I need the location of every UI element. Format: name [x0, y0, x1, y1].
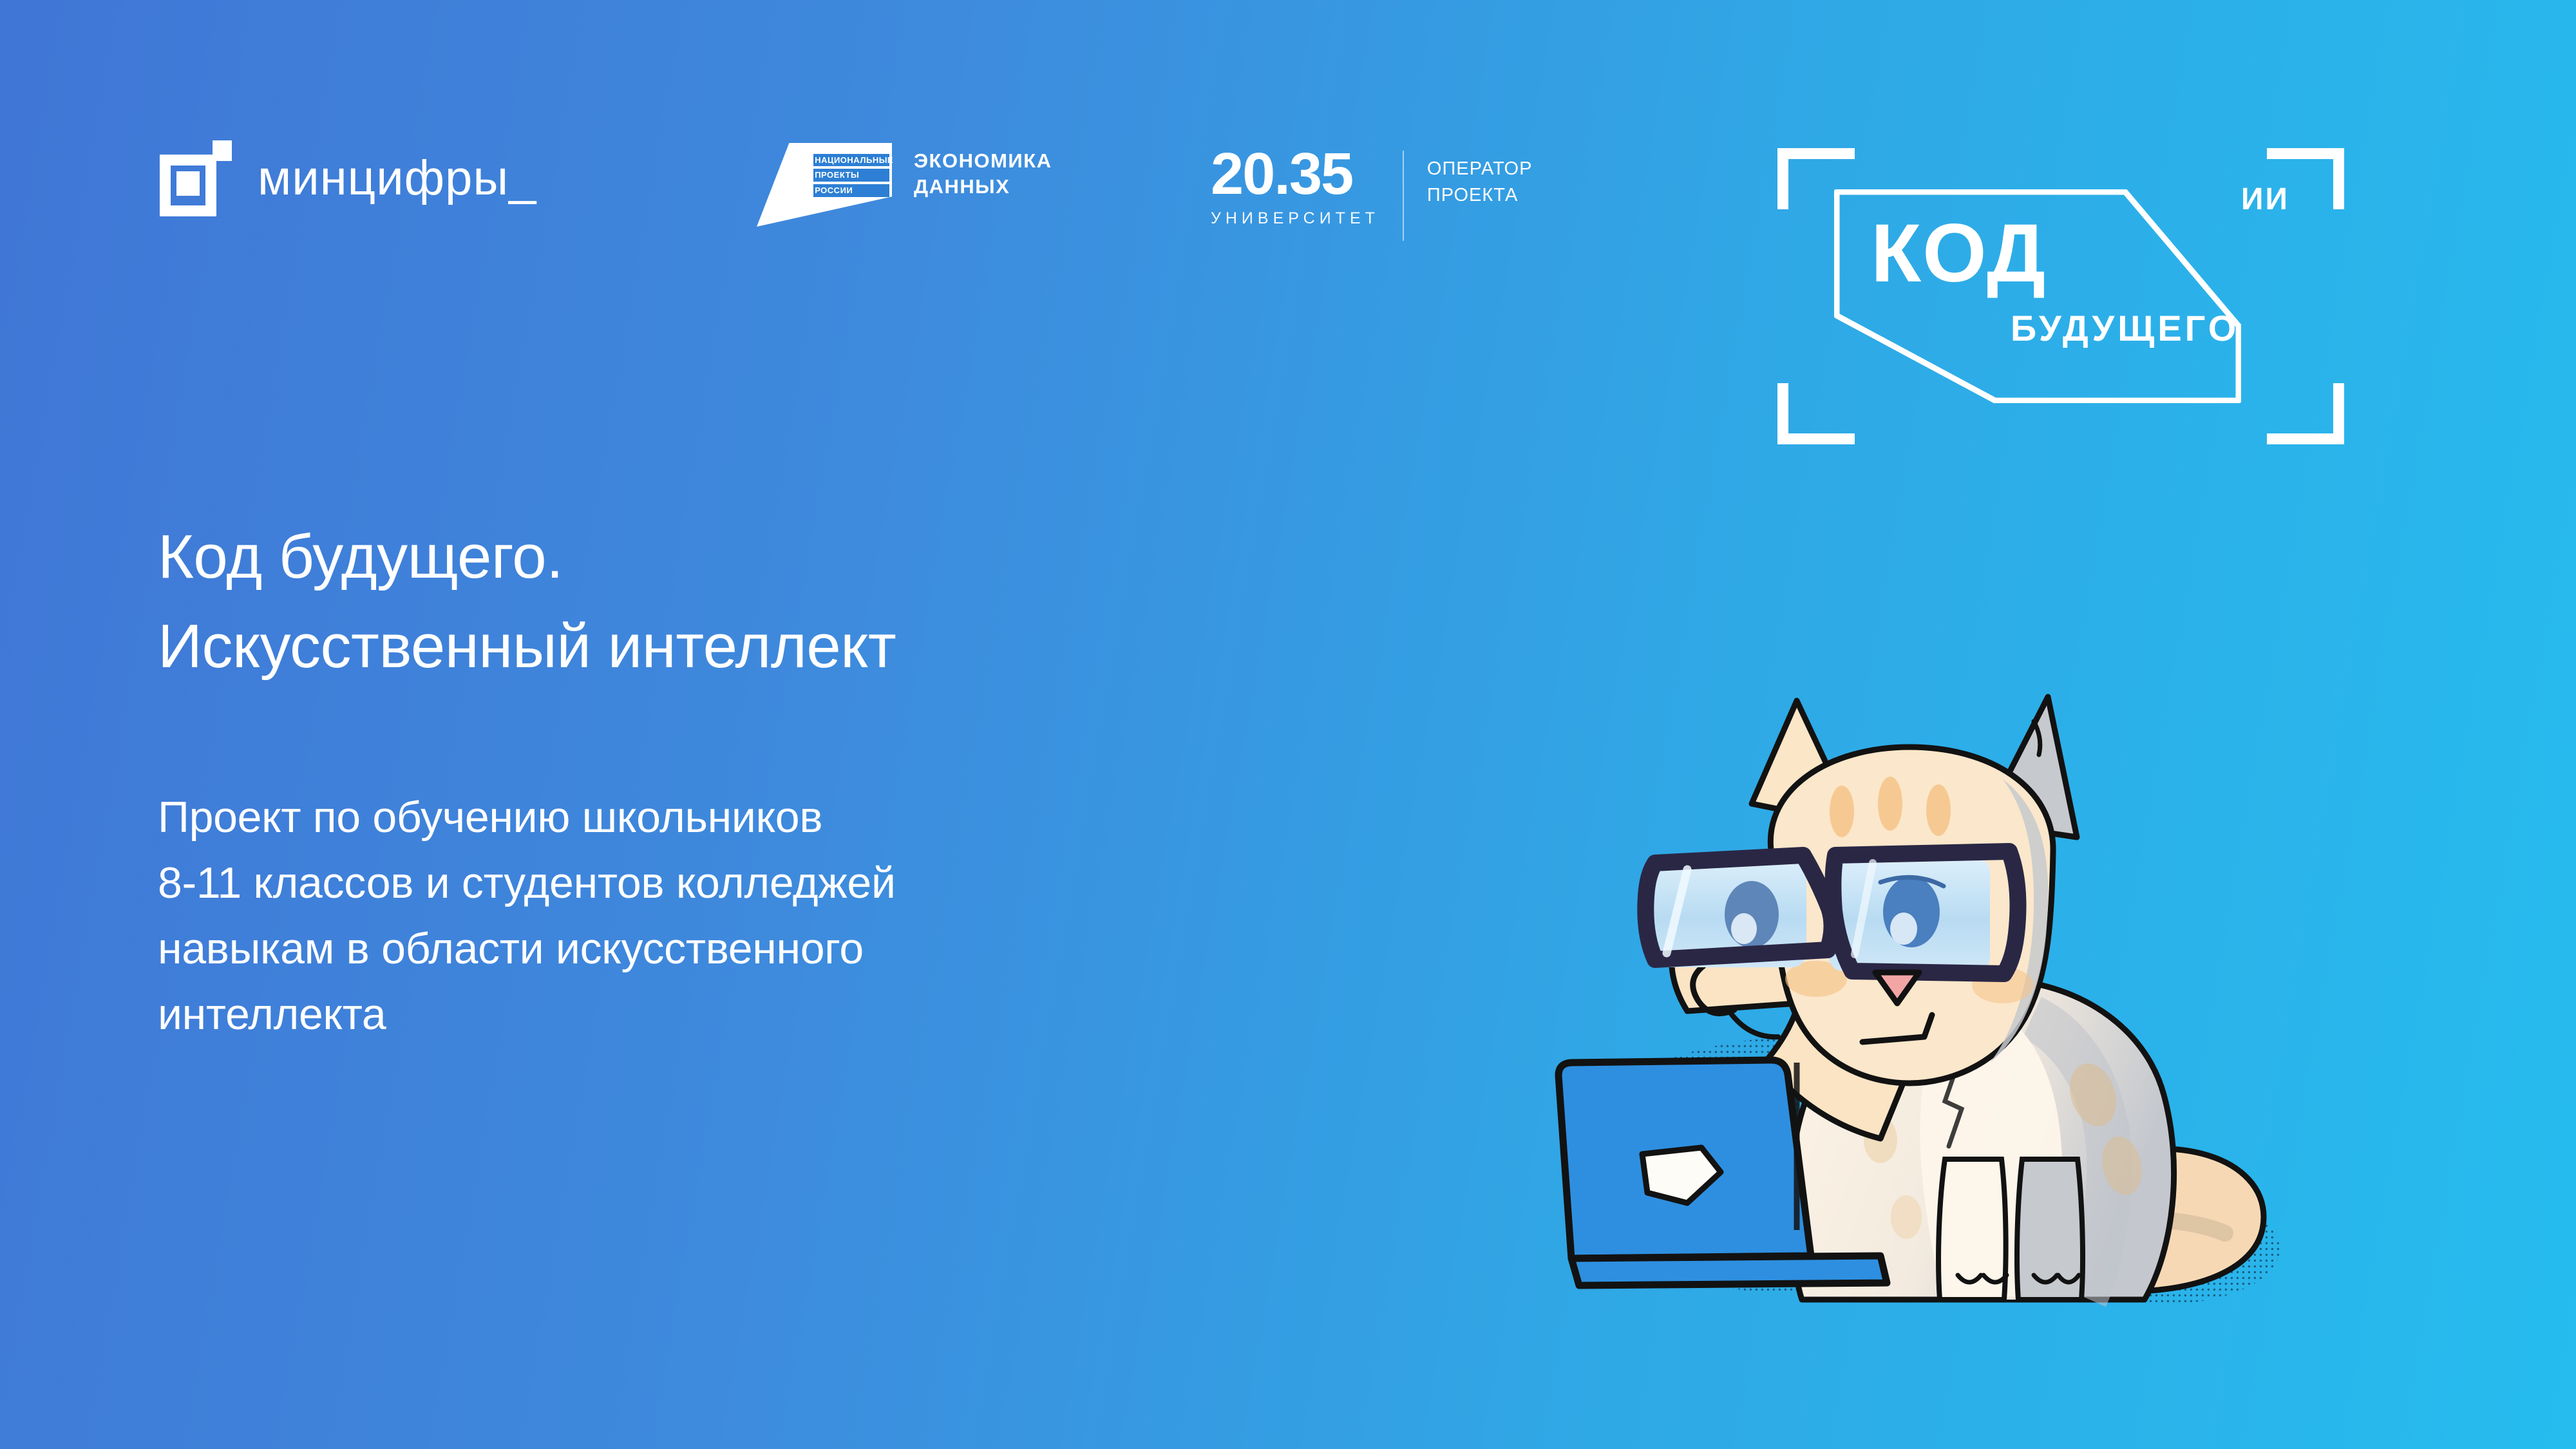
operator-line-2: ПРОЕКТА	[1427, 182, 1533, 209]
national-projects-logo[interactable]: НАЦИОНАЛЬНЫЕ ПРОЕКТЫ РОССИИ ЭКОНОМИКА ДА…	[757, 143, 1052, 227]
hero-description: Проект по обучению школьников 8-11 класс…	[158, 784, 1510, 1047]
university-subtitle: УНИВЕРСИТЕТ	[1211, 209, 1379, 228]
university-2035-logo[interactable]: 20.35 УНИВЕРСИТЕТ ОПЕРАТОР ПРОЕКТА	[1211, 147, 1532, 241]
headline-line-1: Код будущего.	[158, 512, 1510, 601]
bracket-bottom-right-icon	[2267, 383, 2344, 444]
flag-line-1: НАЦИОНАЛЬНЫЕ	[813, 154, 889, 167]
project-operator-caption: ОПЕРАТОР ПРОЕКТА	[1427, 147, 1533, 209]
kod-budushchego-logo[interactable]: КОД БУДУЩЕГО ИИ	[1777, 148, 2344, 444]
kod-word: КОД	[1871, 213, 2047, 295]
logo-bar: минцифры_ НАЦИОНАЛЬНЫЕ ПРОЕКТЫ РОССИИ ЭК…	[0, 0, 2576, 451]
mincifry-square-icon	[160, 140, 232, 216]
body-line-4: интеллекта	[158, 981, 1510, 1047]
body-line-3: навыкам в области искусственного	[158, 916, 1510, 981]
economy-line-1: ЭКОНОМИКА	[914, 148, 1052, 174]
flag-line-2: ПРОЕКТЫ	[813, 169, 889, 182]
headline-line-2: Искусственный интеллект	[158, 601, 1510, 691]
page-title: Код будущего. Искусственный интеллект	[158, 512, 1510, 691]
vr-goggles-icon	[1645, 851, 2018, 974]
body-line-2: 8-11 классов и студентов колледжей	[158, 850, 1510, 916]
body-line-1: Проект по обучению школьников	[158, 784, 1510, 850]
mincifry-wordmark: минцифры_	[258, 154, 536, 203]
economy-line-2: ДАННЫХ	[914, 174, 1052, 200]
national-projects-flag-icon: НАЦИОНАЛЬНЫЕ ПРОЕКТЫ РОССИИ	[757, 143, 892, 227]
operator-line-1: ОПЕРАТОР	[1427, 156, 1533, 182]
economy-of-data-caption: ЭКОНОМИКА ДАННЫХ	[914, 143, 1052, 199]
hero-copy: Код будущего. Искусственный интеллект Пр…	[158, 512, 1510, 1047]
flag-line-3: РОССИИ	[813, 184, 889, 197]
cat-front-leg-left	[1938, 1159, 2006, 1300]
cat-illustration	[1494, 650, 2318, 1333]
mincifry-logo[interactable]: минцифры_	[160, 140, 536, 216]
university-number: 20.35	[1211, 147, 1379, 202]
vertical-divider	[1403, 151, 1404, 241]
budushchego-word: БУДУЩЕГО	[2011, 310, 2239, 346]
ai-badge: ИИ	[2241, 184, 2289, 215]
